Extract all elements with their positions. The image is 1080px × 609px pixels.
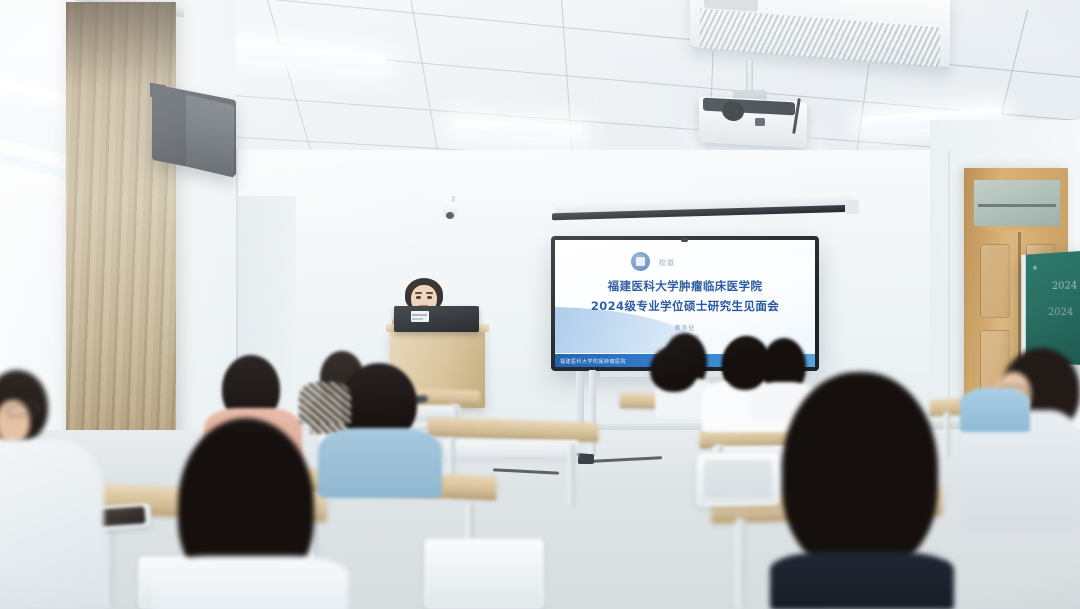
curtain-shadow [66,2,176,92]
desk-front-left-leg [104,518,114,608]
floor-junction-box [578,454,594,464]
chair-mid-right-pad [704,460,772,498]
chalk-mark-icon [1033,266,1037,270]
floor-pole [589,370,596,456]
slide-title-line-1: 福建医科大学肿瘤临床医学院 [555,278,815,294]
camera-lens-icon [446,212,454,219]
wall-corner-right [948,150,950,440]
podium-name-card [411,311,429,322]
student-front-center-hair [650,346,698,392]
logo-inner-mark-icon [636,257,645,266]
podium-laptop[interactable] [394,306,479,332]
desk-back-right-leg [944,412,950,458]
student-front-left-body [152,556,348,609]
projector-lens-icon [722,100,744,121]
student-front-right-body [770,552,954,609]
desk-front-right-leg [736,518,746,608]
desk-mid-center-leg-2 [568,444,575,506]
presenter-eyebrow-left [415,292,422,294]
student-pattern-top [299,382,351,424]
chair-front-center[interactable] [424,538,544,609]
display-camera-icon [681,238,688,242]
door-transom-window [974,180,1060,226]
name-card-line-1 [412,314,427,316]
chalkboard-line-1: 2024 [1052,280,1077,292]
projection-screen-end-cap [845,200,859,214]
student-midright-body [960,388,1030,432]
slide-footer-label: 福建医科大学附属肿瘤医院 [560,358,626,365]
chalkboard-line-2: 2024 [1048,307,1073,318]
presenter-eyebrow-right [426,292,433,294]
screen-glare [765,242,813,258]
presenter-eye-right [427,296,432,299]
slide-subtitle-line-1: 教务处 [555,323,815,332]
name-card-line-2 [412,318,423,320]
classroom-photo: 2024 2024 校徽 福建医科大学肿瘤临床医学院 2024级专业学位硕士研究… [0,0,1080,609]
desk-mid-center-modesty [444,440,578,458]
door-transom-bar [978,204,1056,207]
student-front-right-hair [782,372,938,572]
speaker-grille [186,94,234,177]
slide-title-line-2: 2024级专业学位硕士研究生见面会 [555,298,815,314]
slide-logo-label: 校徽 [659,258,675,268]
projector-knob [755,118,765,126]
student-far-left-body [0,440,104,609]
student-blue-body [318,428,442,498]
chalkboard: 2024 2024 [1021,251,1080,365]
student-white-right-hair [722,338,768,390]
presenter-eye-left [416,296,421,299]
door-panel-upper [980,244,1010,318]
